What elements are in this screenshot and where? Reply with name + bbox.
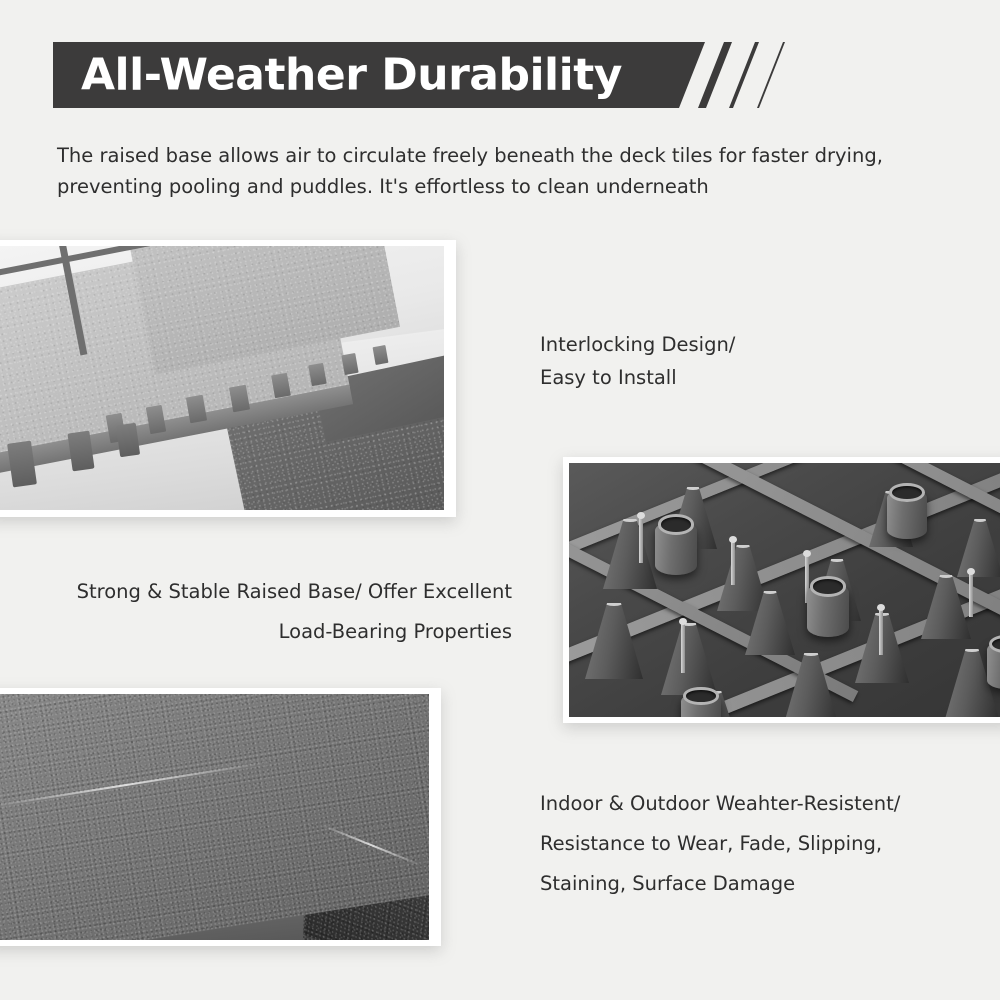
drainage-tube — [887, 489, 927, 539]
alignment-pin — [639, 517, 643, 563]
banner-slash-icon — [729, 42, 759, 108]
caption-line-1: Strong & Stable Raised Base/ Offer Excel… — [46, 572, 512, 612]
caption-line-2: Load-Bearing Properties — [46, 612, 512, 652]
page-title: All-Weather Durability — [81, 50, 622, 101]
banner-slash-icon — [757, 42, 785, 108]
photo-underside-lattice — [569, 463, 1000, 717]
tile-top-surface — [0, 694, 429, 940]
photo-textured-tile-corner — [0, 694, 429, 940]
caption-line-1: Interlocking Design/ — [540, 328, 735, 361]
infographic-page: All-Weather Durability The raised base a… — [0, 0, 1000, 1000]
alignment-pin — [969, 573, 973, 617]
photo-frame-tile-corner — [0, 688, 441, 946]
drainage-tube — [681, 693, 721, 717]
caption-weather-resistant: Indoor & Outdoor Weahter-Resistent/ Resi… — [540, 784, 970, 904]
alignment-pin — [681, 623, 685, 673]
caption-line-1: Indoor & Outdoor Weahter-Resistent/ — [540, 784, 970, 824]
base-foot — [116, 423, 140, 457]
subtitle-line-1: The raised base allows air to circulate … — [57, 140, 947, 171]
drainage-tube — [987, 641, 1000, 689]
photo-frame-underside — [563, 457, 1000, 723]
caption-line-2: Easy to Install — [540, 361, 735, 394]
caption-line-3: Staining, Surface Damage — [540, 864, 970, 904]
caption-line-2: Resistance to Wear, Fade, Slipping, — [540, 824, 970, 864]
caption-load-bearing: Strong & Stable Raised Base/ Offer Excel… — [46, 572, 512, 652]
caption-interlocking-design: Interlocking Design/ Easy to Install — [540, 328, 735, 394]
banner-slash-icon — [698, 42, 732, 108]
alignment-pin — [879, 609, 883, 655]
header-banner: All-Weather Durability — [53, 42, 773, 108]
photo-frame-raised-base — [0, 240, 456, 517]
drainage-tube — [655, 521, 697, 575]
photo-deck-tiles-raised-base — [0, 246, 444, 510]
subtitle-text: The raised base allows air to circulate … — [57, 140, 947, 202]
alignment-pin — [731, 541, 735, 585]
drainage-tube — [807, 583, 849, 637]
subtitle-line-2: preventing pooling and puddles. It's eff… — [57, 171, 947, 202]
